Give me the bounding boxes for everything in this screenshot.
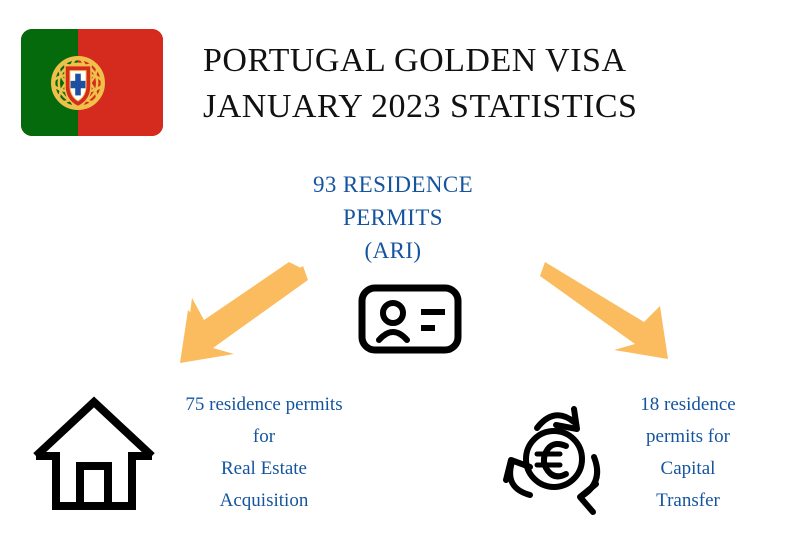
title-line-1: PORTUGAL GOLDEN VISA [203,38,723,84]
house-icon [30,392,158,514]
portugal-flag [21,29,163,136]
capital-transfer-line-3: Capital [608,453,768,485]
real-estate-line-1: 75 residence permits [152,389,376,421]
capital-transfer-line-1: 18 residence [608,389,768,421]
infographic-canvas: PORTUGAL GOLDEN VISA JANUARY 2023 STATIS… [0,0,785,543]
total-permits-label: 93 RESIDENCE PERMITS (ARI) [293,168,493,267]
real-estate-label: 75 residence permits for Real Estate Acq… [152,389,376,517]
arrow-down-left-icon [168,262,308,372]
portugal-coat-of-arms [47,52,109,114]
capital-transfer-line-2: permits for [608,421,768,453]
total-permits-line-2: PERMITS [293,201,493,234]
euro-recycle-icon [498,400,610,518]
id-card-icon [357,283,463,355]
total-permits-line-1: 93 RESIDENCE [293,168,493,201]
arrow-down-right-icon [540,258,680,368]
real-estate-line-4: Acquisition [152,485,376,517]
title-line-2: JANUARY 2023 STATISTICS [203,84,723,130]
page-title: PORTUGAL GOLDEN VISA JANUARY 2023 STATIS… [203,38,723,130]
capital-transfer-label: 18 residence permits for Capital Transfe… [608,389,768,517]
total-permits-line-3: (ARI) [293,234,493,267]
real-estate-line-3: Real Estate [152,453,376,485]
capital-transfer-line-4: Transfer [608,485,768,517]
real-estate-line-2: for [152,421,376,453]
